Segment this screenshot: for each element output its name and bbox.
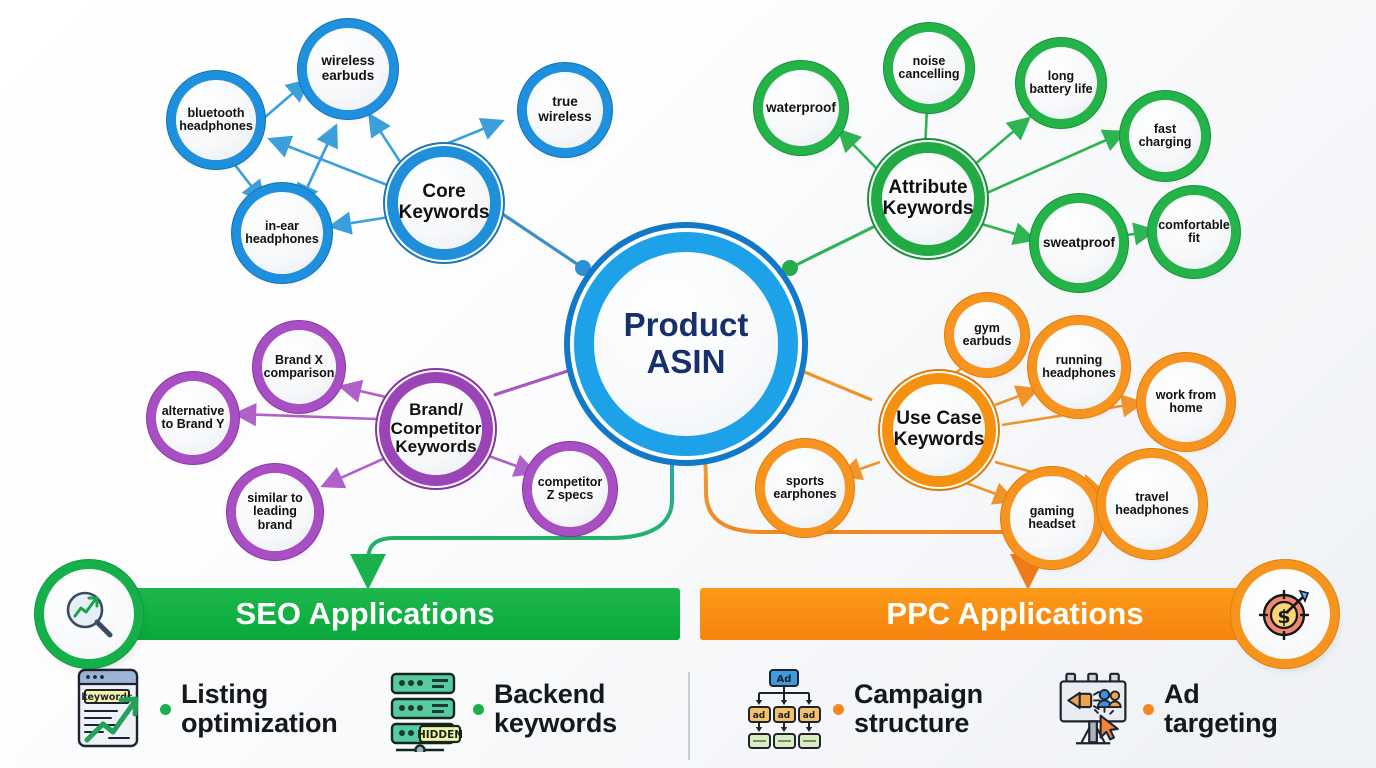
seo-banner-title: SEO Applications bbox=[236, 596, 495, 632]
leaf-node-running-headphones[interactable]: running headphones bbox=[1037, 325, 1121, 409]
hub-label-line2: Keywords bbox=[883, 198, 974, 219]
leaf-label: sports earphones bbox=[765, 475, 845, 502]
ad-root-text: Ad bbox=[777, 674, 792, 685]
leaf-label: travel headphones bbox=[1106, 491, 1198, 518]
feature-label-line2: keywords bbox=[494, 708, 617, 738]
leaf-label: running headphones bbox=[1037, 354, 1121, 381]
hub-node-use-case-keywords[interactable]: Use Case Keywords bbox=[893, 384, 985, 476]
leaf-node-noise-cancelling[interactable]: noise cancelling bbox=[893, 32, 965, 104]
feature-backend-keywords[interactable]: HIDDEN Backend keywords bbox=[385, 665, 617, 753]
leaf-label: noise cancelling bbox=[893, 55, 965, 82]
hub-label-line1: Use Case bbox=[896, 408, 982, 429]
ppc-banner-title: PPC Applications bbox=[886, 596, 1143, 632]
central-node-product-asin[interactable]: Product ASIN bbox=[594, 252, 778, 436]
feature-label: Listing optimization bbox=[181, 680, 338, 737]
feature-label: Backend keywords bbox=[494, 680, 617, 737]
feature-label-line1: Campaign bbox=[854, 679, 983, 709]
leaf-label: gaming headset bbox=[1010, 505, 1094, 532]
leaf-node-comfortable-fit[interactable]: comfortable fit bbox=[1157, 195, 1231, 269]
feature-label-line2: structure bbox=[854, 708, 969, 738]
feature-label: Campaign structure bbox=[854, 680, 983, 737]
feature-label-line1: Backend bbox=[494, 679, 605, 709]
listing-page-growth-icon: keywords bbox=[72, 665, 150, 753]
bullet-orange bbox=[1143, 704, 1154, 715]
hub-label-line2: Keywords bbox=[894, 429, 985, 450]
leaf-node-brand-x-comparison[interactable]: Brand X comparison bbox=[262, 330, 336, 404]
hub-label-line1: Brand/ bbox=[409, 400, 463, 419]
target-dollar-icon: $ bbox=[1240, 569, 1330, 659]
bullet-orange bbox=[833, 704, 844, 715]
central-node-line1: Product bbox=[624, 306, 749, 343]
leaf-node-alternative-to-brand-y[interactable]: alternative to Brand Y bbox=[156, 381, 230, 455]
central-node-line2: ASIN bbox=[647, 343, 726, 380]
leaf-label: Brand X comparison bbox=[260, 354, 339, 381]
ppc-applications-banner[interactable]: PPC Applications bbox=[700, 588, 1330, 640]
leaf-node-long-battery-life[interactable]: long battery life bbox=[1025, 47, 1097, 119]
leaf-node-competitor-z-specs[interactable]: competitor Z specs bbox=[532, 451, 608, 527]
leaf-label: bluetooth headphones bbox=[175, 107, 257, 134]
leaf-label: comfortable fit bbox=[1154, 219, 1234, 246]
leaf-label: true wireless bbox=[527, 95, 603, 124]
leaf-node-fast-charging[interactable]: fast charging bbox=[1129, 100, 1201, 172]
feature-label: Ad targeting bbox=[1164, 680, 1278, 737]
leaf-node-similar-to-leading-brand[interactable]: similar to leading brand bbox=[236, 473, 314, 551]
leaf-node-travel-headphones[interactable]: travel headphones bbox=[1106, 458, 1198, 550]
bullet-green bbox=[160, 704, 171, 715]
bullet-green bbox=[473, 704, 484, 715]
leaf-label: competitor Z specs bbox=[532, 476, 608, 503]
hub-node-brand-competitor-keywords[interactable]: Brand/ Competitor Keywords bbox=[390, 383, 482, 475]
leaf-node-sweatproof[interactable]: sweatproof bbox=[1039, 203, 1119, 283]
hub-label-line2: Keywords bbox=[399, 202, 490, 223]
hub-label-line1: Core bbox=[422, 181, 465, 202]
feature-label-line2: optimization bbox=[181, 708, 338, 738]
server-hidden-icon: HIDDEN bbox=[385, 665, 463, 753]
feature-listing-optimization[interactable]: keywords Listing optimization bbox=[72, 665, 338, 753]
leaf-node-work-from-home[interactable]: work from home bbox=[1146, 362, 1226, 442]
leaf-label: in-ear headphones bbox=[241, 220, 323, 247]
hub-node-attribute-keywords[interactable]: Attribute Keywords bbox=[882, 153, 974, 245]
leaf-node-gym-earbuds[interactable]: gym earbuds bbox=[954, 302, 1020, 368]
leaf-label: fast charging bbox=[1129, 123, 1201, 150]
ad-hierarchy-icon: Ad ad ad ad bbox=[745, 665, 823, 753]
server-icon-text: HIDDEN bbox=[417, 729, 462, 741]
leaf-node-waterproof[interactable]: waterproof bbox=[763, 70, 839, 146]
leaf-node-wireless-earbuds[interactable]: wireless earbuds bbox=[307, 28, 389, 110]
feature-row: keywords Listing optimization bbox=[0, 655, 1376, 768]
mindmap-canvas: Product ASIN Core Keywords bluetooth hea… bbox=[0, 0, 1376, 768]
feature-label-line1: Listing bbox=[181, 679, 268, 709]
billboard-megaphone-audience-icon bbox=[1055, 665, 1133, 753]
leaf-label: similar to leading brand bbox=[236, 492, 314, 533]
leaf-label: work from home bbox=[1146, 389, 1226, 416]
leaf-label: wireless earbuds bbox=[307, 54, 389, 83]
hub-label-line1: Attribute bbox=[888, 177, 967, 198]
hub-label-line3: Keywords bbox=[395, 437, 476, 456]
seo-applications-banner[interactable]: SEO Applications bbox=[50, 588, 680, 640]
feature-ad-targeting[interactable]: Ad targeting bbox=[1055, 665, 1278, 753]
hub-label-line2: Competitor bbox=[391, 419, 482, 438]
leaf-label: alternative to Brand Y bbox=[156, 405, 230, 432]
feature-label-line2: targeting bbox=[1164, 708, 1278, 738]
feature-label-line1: Ad bbox=[1164, 679, 1200, 709]
feature-campaign-structure[interactable]: Ad ad ad ad bbox=[745, 665, 983, 753]
hub-node-core-keywords[interactable]: Core Keywords bbox=[398, 157, 490, 249]
ad-child-text: ad bbox=[778, 711, 791, 721]
leaf-node-sports-earphones[interactable]: sports earphones bbox=[765, 448, 845, 528]
leaf-label: long battery life bbox=[1025, 70, 1097, 97]
ad-child-text: ad bbox=[753, 711, 766, 721]
magnifier-growth-icon bbox=[44, 569, 134, 659]
leaf-node-in-ear-headphones[interactable]: in-ear headphones bbox=[241, 192, 323, 274]
leaf-label: sweatproof bbox=[1039, 236, 1119, 251]
leaf-node-true-wireless[interactable]: true wireless bbox=[527, 72, 603, 148]
leaf-node-gaming-headset[interactable]: gaming headset bbox=[1010, 476, 1094, 560]
ad-child-text: ad bbox=[803, 711, 816, 721]
leaf-label: waterproof bbox=[762, 101, 840, 116]
leaf-node-bluetooth-headphones[interactable]: bluetooth headphones bbox=[176, 80, 256, 160]
leaf-label: gym earbuds bbox=[954, 322, 1020, 349]
